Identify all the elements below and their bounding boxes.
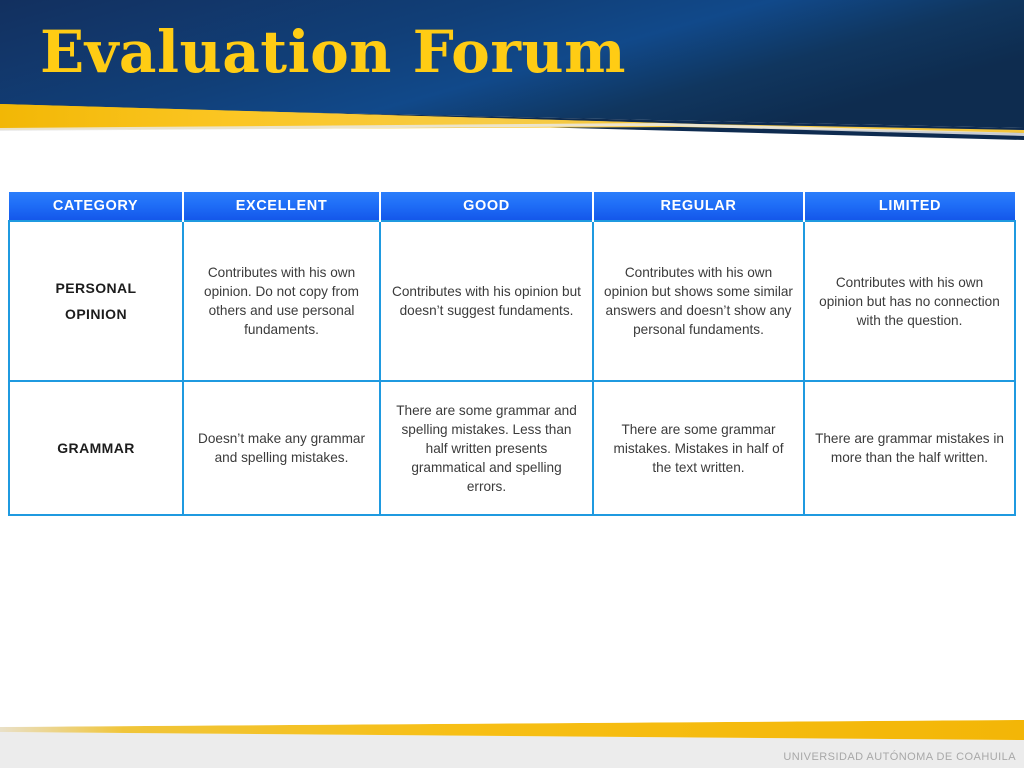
slide-footer: UNIVERSIDAD AUTÓNOMA DE COAHUILA — [0, 696, 1024, 768]
rubric-table: CATEGORY EXCELLENT GOOD REGULAR LIMITED … — [8, 192, 1016, 516]
category-label-line1: PERSONAL — [20, 275, 172, 301]
page-title: Evaluation Forum — [40, 17, 626, 87]
column-header-category: CATEGORY — [9, 192, 183, 221]
cell-personal-regular: Contributes with his own opinion but sho… — [593, 221, 804, 381]
cell-grammar-limited: There are grammar mistakes in more than … — [804, 381, 1015, 515]
column-header-limited: LIMITED — [804, 192, 1015, 221]
row-category-personal-opinion: PERSONAL OPINION — [9, 221, 183, 381]
category-label-line2: OPINION — [20, 301, 172, 327]
cell-grammar-regular: There are some grammar mistakes. Mistake… — [593, 381, 804, 515]
cell-personal-limited: Contributes with his own opinion but has… — [804, 221, 1015, 381]
table-header-row: CATEGORY EXCELLENT GOOD REGULAR LIMITED — [9, 192, 1015, 221]
slide-header-banner: Evaluation Forum — [0, 0, 1024, 140]
table-row: GRAMMAR Doesn’t make any grammar and spe… — [9, 381, 1015, 515]
column-header-good: GOOD — [380, 192, 593, 221]
cell-grammar-good: There are some grammar and spelling mist… — [380, 381, 593, 515]
footer-institution-label: UNIVERSIDAD AUTÓNOMA DE COAHUILA — [783, 751, 1016, 763]
column-header-excellent: EXCELLENT — [183, 192, 380, 221]
table-row: PERSONAL OPINION Contributes with his ow… — [9, 221, 1015, 381]
row-category-grammar: GRAMMAR — [9, 381, 183, 515]
cell-grammar-excellent: Doesn’t make any grammar and spelling mi… — [183, 381, 380, 515]
cell-personal-good: Contributes with his opinion but doesn’t… — [380, 221, 593, 381]
cell-personal-excellent: Contributes with his own opinion. Do not… — [183, 221, 380, 381]
column-header-regular: REGULAR — [593, 192, 804, 221]
